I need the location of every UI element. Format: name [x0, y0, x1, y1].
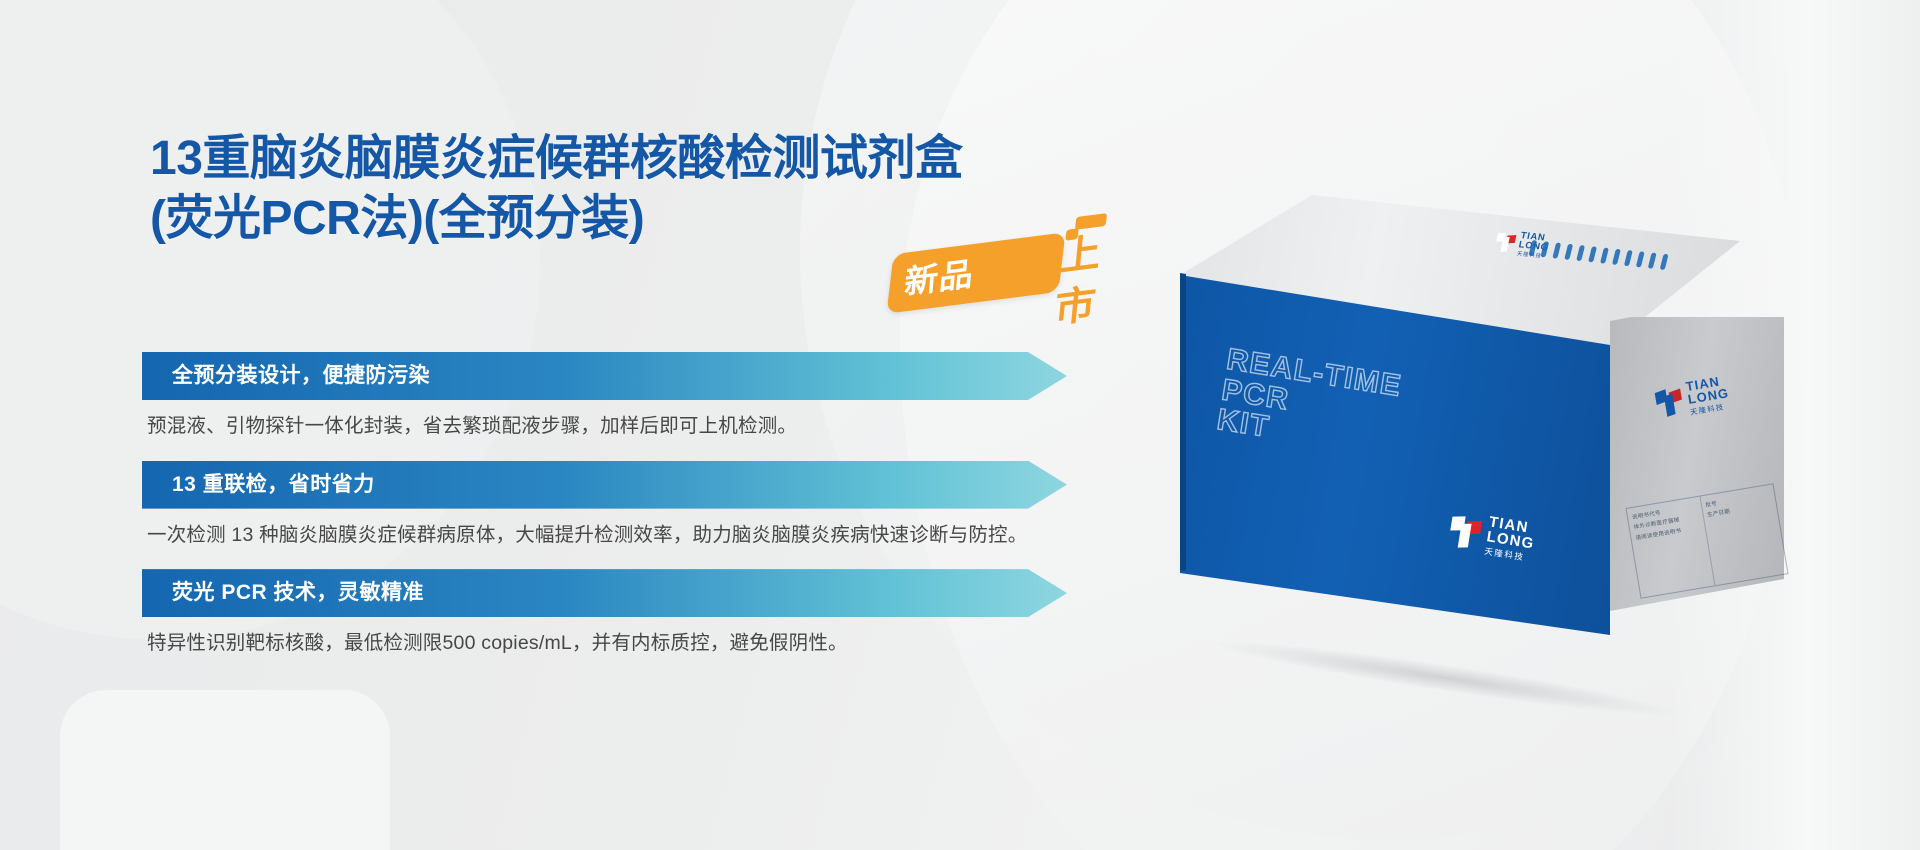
feature-item-3: 荧光 PCR 技术，灵敏精准 特异性识别靶标核酸，最低检测限500 copies… [142, 569, 1092, 660]
feature-heading-2: 13 重联检，省时省力 [172, 461, 375, 509]
tianlong-mark-icon-side [1654, 386, 1684, 417]
feature-description-3: 特异性识别靶标核酸，最低检测限500 copies/mL，并有内标质控，避免假阴… [147, 628, 1077, 660]
side-info-column-2: 批号 生产日期 [1700, 484, 1787, 585]
feature-heading-3: 荧光 PCR 技术，灵敏精准 [172, 569, 424, 617]
tianlong-mark-icon [1494, 231, 1517, 252]
page-title: 13重脑炎脑膜炎症候群核酸检测试剂盒 (荧光PCR法)(全预分装) [150, 132, 962, 246]
product-box-image: TIAN LONG 天隆科技 REAL-TIME PCR KIT TIAN LO… [1180, 195, 1800, 715]
title-line-2: (荧光PCR法)(全预分装) [150, 192, 962, 246]
feature-heading-bar-2: 13 重联检，省时省力 [142, 461, 1067, 509]
badge-open-label: 上市 [1052, 223, 1136, 336]
box-front-logo-words: TIAN LONG 天隆科技 [1484, 514, 1538, 562]
box-side-logo-words: TIAN LONG 天隆科技 [1685, 374, 1732, 416]
new-product-badge: 新品 上市 [880, 215, 1130, 310]
feature-heading-1: 全预分装设计，便捷防污染 [172, 352, 430, 400]
title-line-1: 13重脑炎脑膜炎症候群核酸检测试剂盒 [150, 132, 962, 186]
box-front-edge [1180, 271, 1186, 576]
feature-description-1: 预混液、引物探针一体化封装，省去繁琐配液步骤，加样后即可上机检测。 [147, 411, 1077, 443]
tianlong-mark-icon-front [1448, 513, 1483, 549]
feature-item-2: 13 重联检，省时省力 一次检测 13 种脑炎脑膜炎症候群病原体，大幅提升检测效… [142, 461, 1092, 552]
promo-banner: 13重脑炎脑膜炎症候群核酸检测试剂盒 (荧光PCR法)(全预分装) 新品 上市 … [0, 0, 1920, 850]
feature-item-1: 全预分装设计，便捷防污染 预混液、引物探针一体化封装，省去繁琐配液步骤，加样后即… [142, 352, 1092, 443]
feature-list: 全预分装设计，便捷防污染 预混液、引物探针一体化封装，省去繁琐配液步骤，加样后即… [142, 352, 1092, 678]
box-drop-shadow [1211, 630, 1680, 725]
background-rounded-square-bottom-left [60, 690, 390, 850]
feature-heading-bar-1: 全预分装设计，便捷防污染 [142, 352, 1067, 400]
feature-heading-bar-3: 荧光 PCR 技术，灵敏精准 [142, 569, 1067, 617]
feature-description-2: 一次检测 13 种脑炎脑膜炎症候群病原体，大幅提升检测效率，助力脑炎脑膜炎疾病快… [147, 520, 1077, 552]
